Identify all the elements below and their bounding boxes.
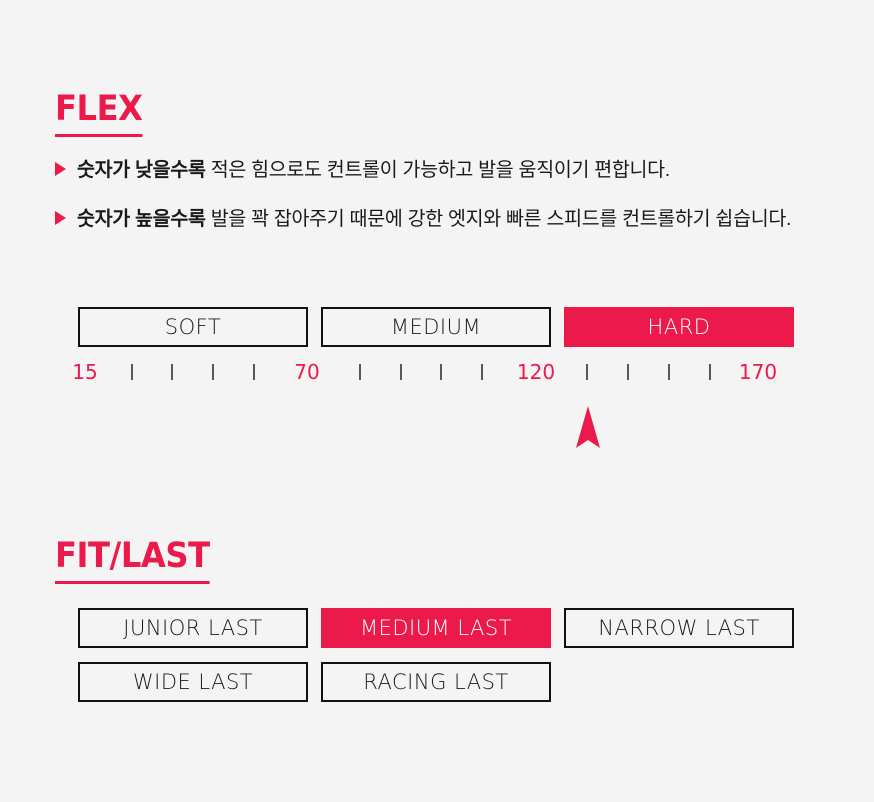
section-heading-flex-label: FLEX [55, 89, 143, 129]
fit-option-medium-last[interactable]: MEDIUM LAST [321, 608, 551, 648]
scale-tick [709, 364, 711, 380]
flex-bullet-strong-1: 숫자가 낮을수록 [77, 159, 206, 181]
flex-bullet-strong-2: 숫자가 높을수록 [77, 208, 206, 230]
flex-bullet-rest-1: 적은 힘으로도 컨트롤이 가능하고 발을 움직이기 편합니다. [206, 159, 670, 181]
scale-tick [359, 364, 361, 380]
list-item: 숫자가 낮을수록 적은 힘으로도 컨트롤이 가능하고 발을 움직이기 편합니다. [55, 155, 815, 186]
fit-option-wide-last[interactable]: WIDE LAST [78, 662, 308, 702]
scale-tick [171, 364, 173, 380]
flex-pointer-arrow-up-icon [570, 406, 606, 450]
section-heading-flex-underline [55, 134, 143, 137]
flex-option-soft-label: SOFT [165, 315, 221, 339]
scale-tick [481, 364, 483, 380]
section-heading-fitlast: FIT/LAST [55, 539, 210, 584]
scale-tick [668, 364, 670, 380]
flex-option-hard[interactable]: HARD [564, 307, 794, 347]
flex-scale: 15 70 120 170 [0, 360, 874, 392]
fit-option-racing-last-label: RACING LAST [363, 670, 508, 694]
fit-option-medium-last-label: MEDIUM LAST [360, 616, 512, 640]
scale-label-120: 120 [517, 360, 555, 384]
triangle-right-icon [55, 211, 66, 225]
flex-bullet-text-1: 숫자가 낮을수록 적은 힘으로도 컨트롤이 가능하고 발을 움직이기 편합니다. [77, 155, 670, 186]
scale-label-70: 70 [294, 360, 319, 384]
fit-last-option-grid: JUNIOR LAST MEDIUM LAST NARROW LAST WIDE… [0, 608, 874, 702]
flex-bullet-text-2: 숫자가 높을수록 발을 꽉 잡아주기 때문에 강한 엣지와 빠른 스피드를 컨트… [77, 204, 791, 235]
fit-option-narrow-last-label: NARROW LAST [598, 616, 759, 640]
spec-page: FLEX 숫자가 낮을수록 적은 힘으로도 컨트롤이 가능하고 발을 움직이기 … [0, 0, 874, 802]
fit-option-narrow-last[interactable]: NARROW LAST [564, 608, 794, 648]
fit-option-racing-last[interactable]: RACING LAST [321, 662, 551, 702]
scale-tick [627, 364, 629, 380]
fit-option-wide-last-label: WIDE LAST [133, 670, 253, 694]
section-heading-flex: FLEX [55, 92, 143, 137]
scale-label-170: 170 [739, 360, 777, 384]
flex-option-hard-label: HARD [648, 315, 711, 339]
scale-label-15: 15 [72, 360, 97, 384]
section-heading-fitlast-underline [55, 581, 210, 584]
section-heading-fitlast-label: FIT/LAST [55, 536, 210, 576]
scale-tick [131, 364, 133, 380]
fit-option-junior-last-label: JUNIOR LAST [123, 616, 262, 640]
scale-tick [586, 364, 588, 380]
flex-bullet-rest-2: 발을 꽉 잡아주기 때문에 강한 엣지와 빠른 스피드를 컨트롤하기 쉽습니다. [206, 208, 792, 230]
triangle-right-icon [55, 162, 66, 176]
scale-tick [440, 364, 442, 380]
fit-option-junior-last[interactable]: JUNIOR LAST [78, 608, 308, 648]
flex-option-row: SOFT MEDIUM HARD [0, 307, 874, 347]
list-item: 숫자가 높을수록 발을 꽉 잡아주기 때문에 강한 엣지와 빠른 스피드를 컨트… [55, 204, 815, 235]
scale-tick [212, 364, 214, 380]
flex-option-soft[interactable]: SOFT [78, 307, 308, 347]
flex-option-medium[interactable]: MEDIUM [321, 307, 551, 347]
flex-bullet-list: 숫자가 낮을수록 적은 힘으로도 컨트롤이 가능하고 발을 움직이기 편합니다.… [55, 155, 815, 253]
flex-option-medium-label: MEDIUM [391, 315, 481, 339]
scale-tick [400, 364, 402, 380]
scale-tick [253, 364, 255, 380]
